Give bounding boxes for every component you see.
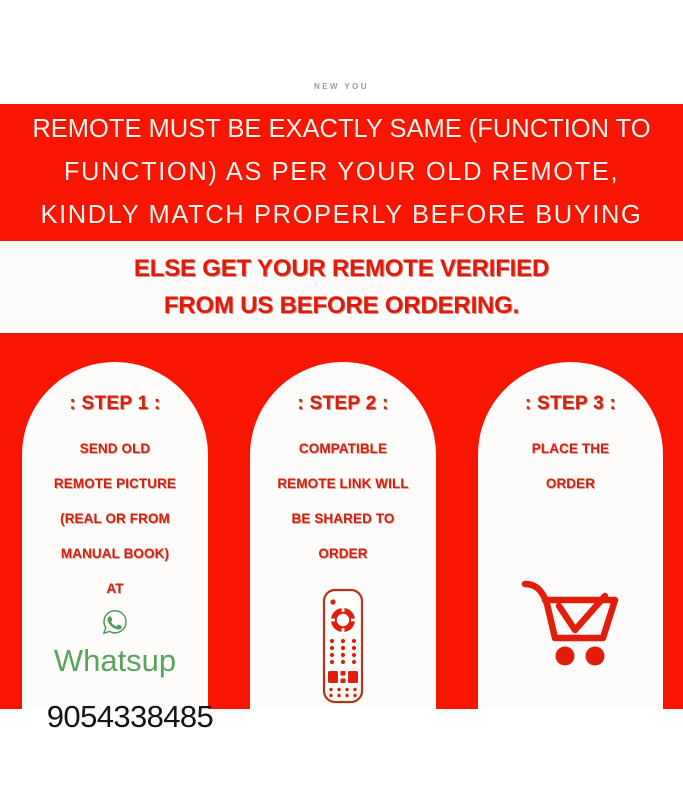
step-column-1: : STEP 1 : SEND OLD REMOTE PICTURE (REAL… [22,362,208,711]
step-1-line-3: (REAL OR FROM [22,501,208,536]
headline-line-3: KINDLY MATCH PROPERLY BEFORE BUYING [40,194,642,237]
brand-bar: NEW YOU [0,0,683,104]
step-1-line-4: MANUAL BOOK) [22,536,208,571]
step-column-2: : STEP 2 : COMPATIBLE REMOTE LINK WILL B… [250,362,436,711]
step-1-title: : STEP 1 : [22,393,208,415]
headline-line-1: REMOTE MUST BE EXACTLY SAME (FUNCTION TO [32,108,650,151]
subheadline-block: ELSE GET YOUR REMOTE VERIFIED FROM US BE… [0,241,683,333]
step-3-line-2: ORDER [478,466,663,501]
headline-banner: REMOTE MUST BE EXACTLY SAME (FUNCTION TO… [0,104,683,241]
step-2-body: COMPATIBLE REMOTE LINK WILL BE SHARED TO… [250,431,436,571]
step-1-line-5: AT [22,571,208,606]
promo-graphic: NEW YOU REMOTE MUST BE EXACTLY SAME (FUN… [0,0,683,800]
subheadline-line-1: ELSE GET YOUR REMOTE VERIFIED [134,250,549,287]
whatsapp-icon [101,608,129,641]
tv-remote-icon [250,587,436,710]
headline-line-2: FUNCTION) AS PER YOUR OLD REMOTE, [64,151,619,194]
step-3-line-1: PLACE THE [478,431,663,466]
subheadline-line-2: FROM US BEFORE ORDERING. [164,287,519,324]
step-2-title: : STEP 2 : [250,393,436,415]
whatsapp-phone-number: 9054338485 [20,699,240,735]
shopping-cart-icon [478,574,663,675]
step-column-3: : STEP 3 : PLACE THE ORDER [478,362,663,711]
step-3-body: PLACE THE ORDER [478,431,663,501]
step-2-line-1: COMPATIBLE [250,431,436,466]
step-2-line-3: BE SHARED TO [250,501,436,536]
whatsapp-label: Whatsup [22,641,208,681]
step-2-line-2: REMOTE LINK WILL [250,466,436,501]
whatsapp-contact-block: Whatsup [22,608,208,681]
brand-name: NEW YOU [0,82,683,91]
step-2-line-4: ORDER [250,536,436,571]
steps-panel: : STEP 1 : SEND OLD REMOTE PICTURE (REAL… [0,333,683,711]
step-1-line-2: REMOTE PICTURE [22,466,208,501]
step-1-body: SEND OLD REMOTE PICTURE (REAL OR FROM MA… [22,431,208,606]
step-1-line-1: SEND OLD [22,431,208,466]
step-3-title: : STEP 3 : [478,393,663,415]
